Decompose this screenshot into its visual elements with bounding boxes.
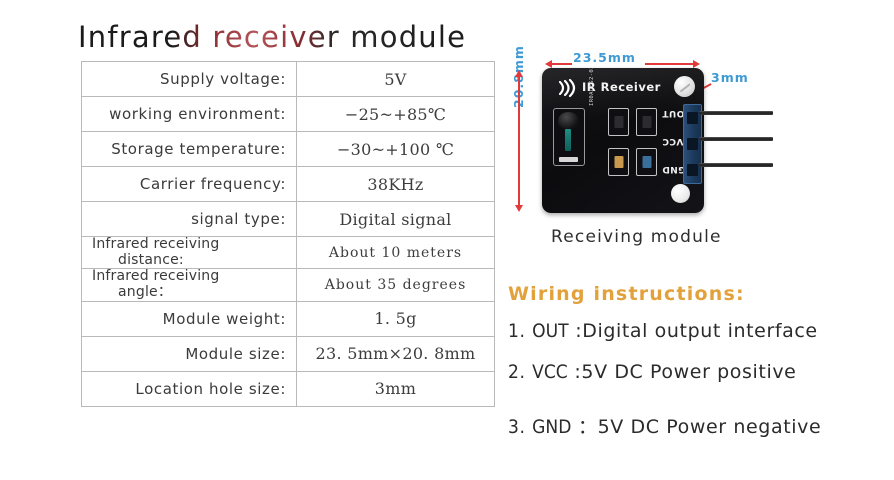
table-row: signal type: Digital signal [82,202,495,237]
spec-label-line1: Infrared receiving [92,268,219,284]
spec-value: 1. 5g [297,301,495,336]
spec-value: −25~+85℃ [297,97,495,132]
table-row: Module size: 23. 5mm×20. 8mm [82,336,495,371]
spec-value: 3mm [297,371,495,406]
wiring-pin-name: OUT [532,320,568,342]
spec-label: signal type: [82,202,297,237]
header-slot [687,112,698,124]
dimension-width-line-right [645,63,693,65]
spec-value: −30~+100 ℃ [297,132,495,167]
table-row: Carrier frequency: 38KHz [82,167,495,202]
table-row: working environment: −25~+85℃ [82,97,495,132]
spec-label: Module size: [82,336,297,371]
wiring-item-out: 1. OUT :Digital output interface [508,320,818,342]
table-row: Infrared receivingdistance: About 10 met… [82,237,495,269]
pin-header [683,104,702,184]
mounting-hole-bottom-icon [671,184,690,203]
header-slot [687,164,698,176]
wiring-pin-name: GND [532,416,571,438]
dimension-arrow-right-icon [693,60,700,68]
spec-value: About 35 degrees [297,269,495,301]
ir-pad [559,157,578,162]
dimension-arrow-down-icon [515,205,523,212]
ir-receiver-component [553,108,585,166]
dimension-width-line-left [550,63,572,65]
table-body: Supply voltage: 5V working environment: … [82,62,495,407]
dimension-arrow-left-icon [545,60,552,68]
wiring-pin-name: VCC [532,361,568,383]
dimension-arrow-up-icon [515,70,523,77]
mounting-hole-top-icon [674,76,695,97]
dimension-height-line [518,76,520,206]
smd-chip [642,116,651,128]
wiring-description: Digital output interface [582,320,818,342]
signal-wave-icon [556,78,578,98]
wiring-item-gnd: 3. GND ：5V DC Power negative [508,412,821,439]
wiring-instructions-heading: Wiring instructions: [508,283,745,305]
ir-lead [565,129,571,151]
spec-value: About 10 meters [297,237,495,269]
photo-caption: Receiving module [551,227,722,247]
spec-label: Carrier frequency: [82,167,297,202]
smd-component [608,108,629,136]
product-photo: 23.5mm 20.8mm 3mm IR Receiver IR0ADFS2-0… [505,50,894,240]
pin-label-vcc: VCC [662,136,683,146]
spec-label: working environment: [82,97,297,132]
wiring-number: 1. [508,320,526,342]
dimension-hole-label: 3mm [711,70,749,85]
wiring-number: 2. [508,361,526,383]
spec-label-line1: Infrared receiving [92,236,219,252]
wiring-item-vcc: 2. VCC :5V DC Power positive [508,361,796,383]
spec-label: Storage temperature: [82,132,297,167]
smd-component [636,148,657,176]
wiring-separator: ： [578,416,598,438]
wiring-description: 5V DC Power negative [598,416,822,438]
specification-table: Supply voltage: 5V working environment: … [81,61,495,407]
header-slot [687,138,698,150]
pin-label-out: OUT [662,108,684,118]
table-row: Storage temperature: −30~+100 ℃ [82,132,495,167]
spec-label-line2: distance: [92,253,286,269]
spec-label: Module weight: [82,301,297,336]
smd-component [608,148,629,176]
metal-pin-out [699,111,773,115]
spec-value: Digital signal [297,202,495,237]
spec-label: Location hole size: [82,371,297,406]
ir-dome [558,112,579,129]
table-row: Location hole size: 3mm [82,371,495,406]
metal-pin-vcc [699,137,773,141]
table-row: Module weight: 1. 5g [82,301,495,336]
spec-label-line2: angle： [92,285,286,301]
spec-label: Infrared receivingdistance: [82,237,297,269]
spec-value: 5V [297,62,495,97]
spec-label: Infrared receivingangle： [82,269,297,301]
silkscreen-serial: IR0ADFS2-03014 [589,68,595,106]
table-row: Supply voltage: 5V [82,62,495,97]
pcb-board: IR Receiver IR0ADFS2-03014 OUT VCC GND [542,68,704,213]
wiring-number: 3. [508,416,526,438]
metal-pin-gnd [699,163,773,167]
smd-chip [614,116,623,128]
spec-value: 38KHz [297,167,495,202]
table-row: Infrared receivingangle： About 35 degree… [82,269,495,301]
dimension-width-label: 23.5mm [573,50,636,65]
spec-value: 23. 5mm×20. 8mm [297,336,495,371]
smd-component [636,108,657,136]
smd-chip [614,156,623,168]
spec-label: Supply voltage: [82,62,297,97]
page-title: Infrared receiver module [78,20,466,54]
smd-chip [642,156,651,168]
wiring-description: 5V DC Power positive [581,361,796,383]
